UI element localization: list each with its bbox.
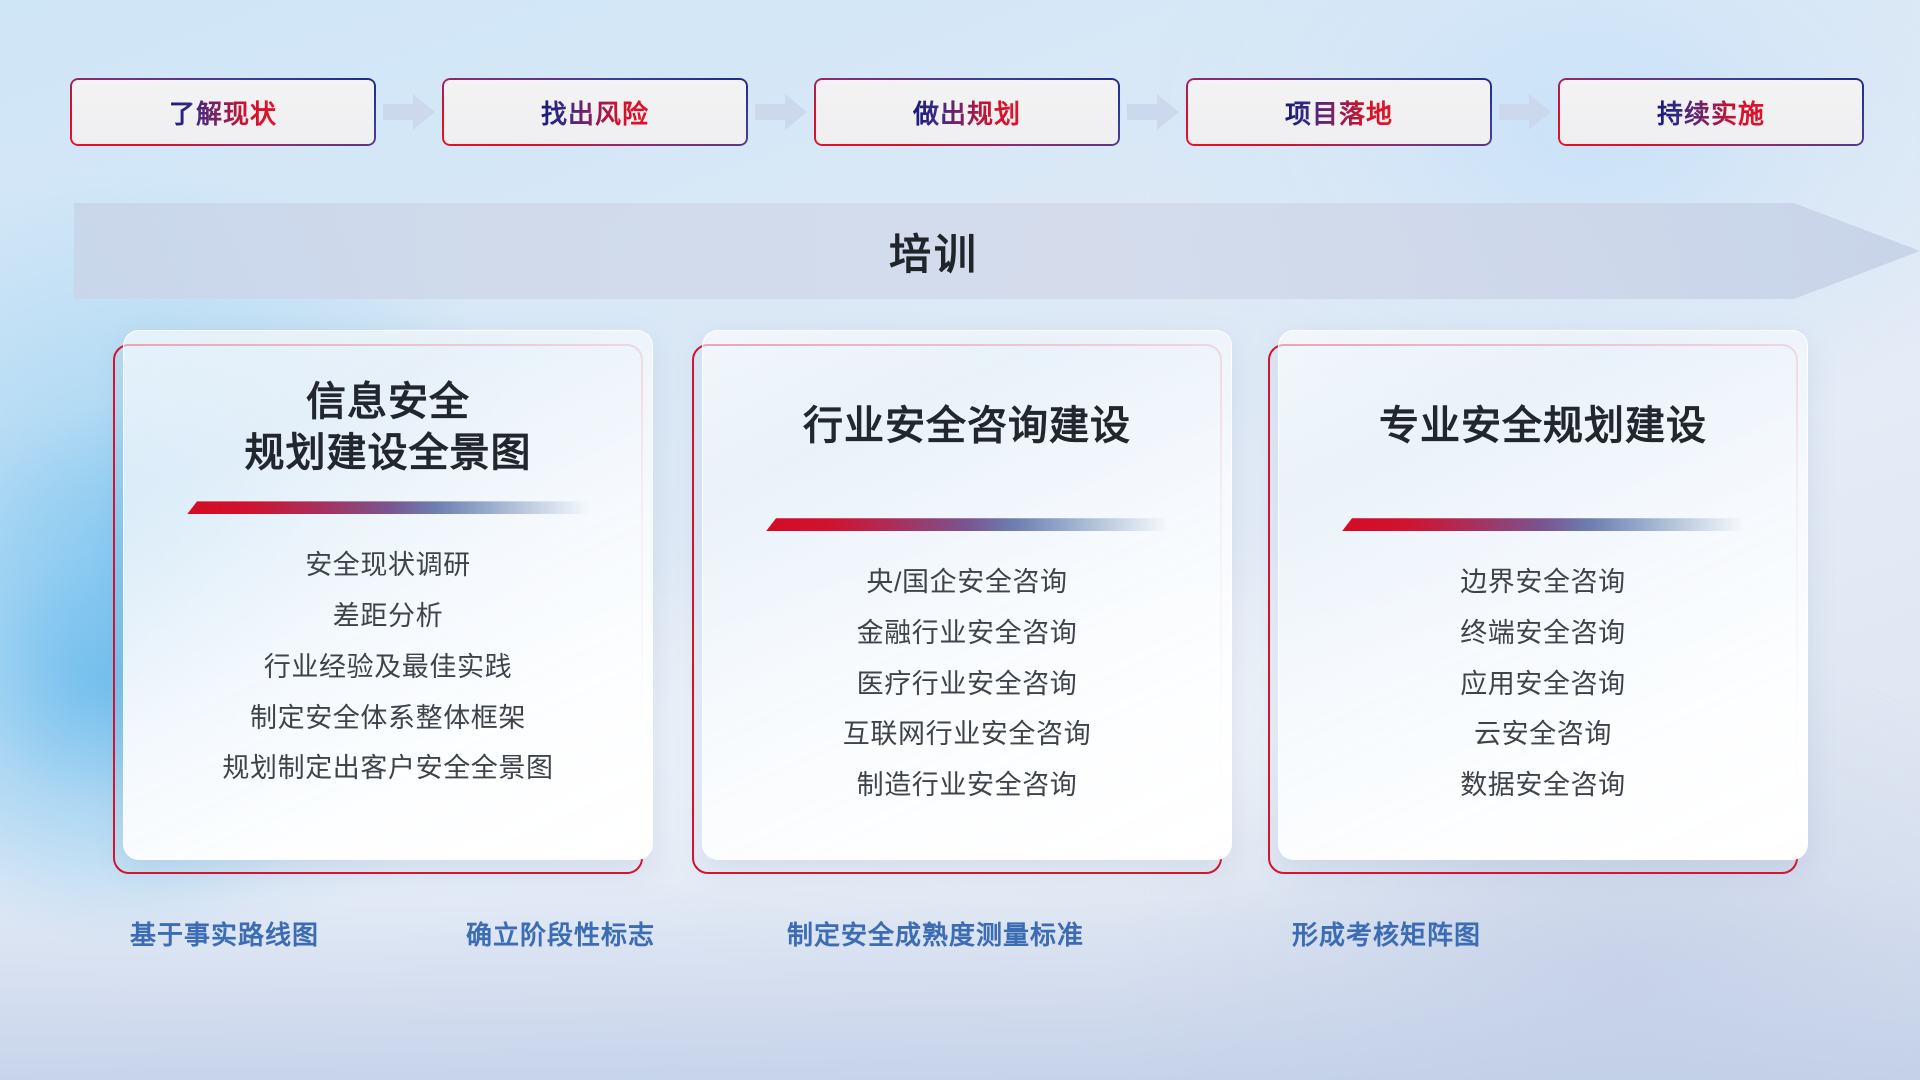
step-label-4: 项目落地 (1285, 94, 1393, 131)
list-item: 边界安全咨询 (1460, 561, 1626, 605)
card-1-accent-rule (187, 501, 589, 514)
step-box-3[interactable]: 做出规划 (814, 78, 1120, 146)
card-1-list: 安全现状调研 差距分析 行业经验及最佳实践 制定安全体系整体框架 规划制定出客户… (124, 544, 652, 791)
list-item: 云安全咨询 (1474, 713, 1612, 757)
list-item: 安全现状调研 (305, 544, 471, 588)
step-box-5[interactable]: 持续实施 (1558, 78, 1864, 146)
footer-label-row: 基于事实路线图 确立阶段性标志 制定安全成熟度测量标准 形成考核矩阵图 (0, 915, 1920, 961)
step-arrow-right-icon-1 (376, 90, 442, 134)
list-item: 金融行业安全咨询 (857, 612, 1078, 656)
step-arrow-right-icon-4 (1492, 90, 1558, 134)
card-1-title: 信息安全 规划建设全景图 (124, 377, 652, 479)
step-label-2: 找出风险 (541, 94, 649, 131)
card-2-title: 行业安全咨询建设 (703, 401, 1231, 452)
list-item: 央/国企安全咨询 (866, 561, 1067, 605)
footer-label-4: 形成考核矩阵图 (1292, 915, 1481, 952)
card-2-list: 央/国企安全咨询 金融行业安全咨询 医疗行业安全咨询 互联网行业安全咨询 制造行… (703, 561, 1231, 808)
infographic-stage: 了解现状 找出风险 做出规划 项目落地 (0, 0, 1920, 1080)
card-3-accent-rule (1342, 518, 1744, 531)
list-item: 差距分析 (333, 595, 443, 639)
card-row: 信息安全 规划建设全景图 安全现状调研 差距分析 行业经验及最佳实践 制定安全体… (0, 330, 1920, 890)
list-item: 数据安全咨询 (1460, 764, 1626, 808)
step-label-1: 了解现状 (169, 94, 277, 131)
list-item: 行业经验及最佳实践 (264, 646, 512, 690)
training-banner: 培训 (74, 203, 1920, 299)
card-2-accent-rule (766, 518, 1168, 531)
footer-label-3: 制定安全成熟度测量标准 (787, 915, 1084, 952)
background-bottom-band (0, 880, 1920, 1080)
card-3[interactable]: 专业安全规划建设 边界安全咨询 终端安全咨询 应用安全咨询 云安全咨询 数据安全… (1268, 330, 1798, 875)
list-item: 规划制定出客户安全全景图 (222, 747, 553, 791)
card-3-panel[interactable]: 专业安全规划建设 边界安全咨询 终端安全咨询 应用安全咨询 云安全咨询 数据安全… (1278, 330, 1808, 860)
list-item: 终端安全咨询 (1460, 612, 1626, 656)
list-item: 制造行业安全咨询 (857, 764, 1078, 808)
training-banner-label: 培训 (74, 203, 1794, 299)
step-box-2[interactable]: 找出风险 (442, 78, 748, 146)
card-1[interactable]: 信息安全 规划建设全景图 安全现状调研 差距分析 行业经验及最佳实践 制定安全体… (113, 330, 643, 875)
list-item: 制定安全体系整体框架 (250, 697, 526, 741)
card-1-panel[interactable]: 信息安全 规划建设全景图 安全现状调研 差距分析 行业经验及最佳实践 制定安全体… (123, 330, 653, 860)
card-3-list: 边界安全咨询 终端安全咨询 应用安全咨询 云安全咨询 数据安全咨询 (1279, 561, 1807, 808)
step-box-4[interactable]: 项目落地 (1186, 78, 1492, 146)
process-step-row: 了解现状 找出风险 做出规划 项目落地 (70, 78, 1860, 146)
list-item: 医疗行业安全咨询 (857, 663, 1078, 707)
list-item: 应用安全咨询 (1460, 663, 1626, 707)
step-arrow-right-icon-2 (748, 90, 814, 134)
step-label-5: 持续实施 (1657, 94, 1765, 131)
card-2-panel[interactable]: 行业安全咨询建设 央/国企安全咨询 金融行业安全咨询 医疗行业安全咨询 互联网行… (702, 330, 1232, 860)
card-2[interactable]: 行业安全咨询建设 央/国企安全咨询 金融行业安全咨询 医疗行业安全咨询 互联网行… (692, 330, 1222, 875)
step-box-1[interactable]: 了解现状 (70, 78, 376, 146)
step-arrow-right-icon-3 (1120, 90, 1186, 134)
step-label-3: 做出规划 (913, 94, 1021, 131)
footer-label-2: 确立阶段性标志 (466, 915, 655, 952)
card-3-title: 专业安全规划建设 (1279, 401, 1807, 452)
footer-label-1: 基于事实路线图 (130, 915, 319, 952)
list-item: 互联网行业安全咨询 (843, 713, 1091, 757)
